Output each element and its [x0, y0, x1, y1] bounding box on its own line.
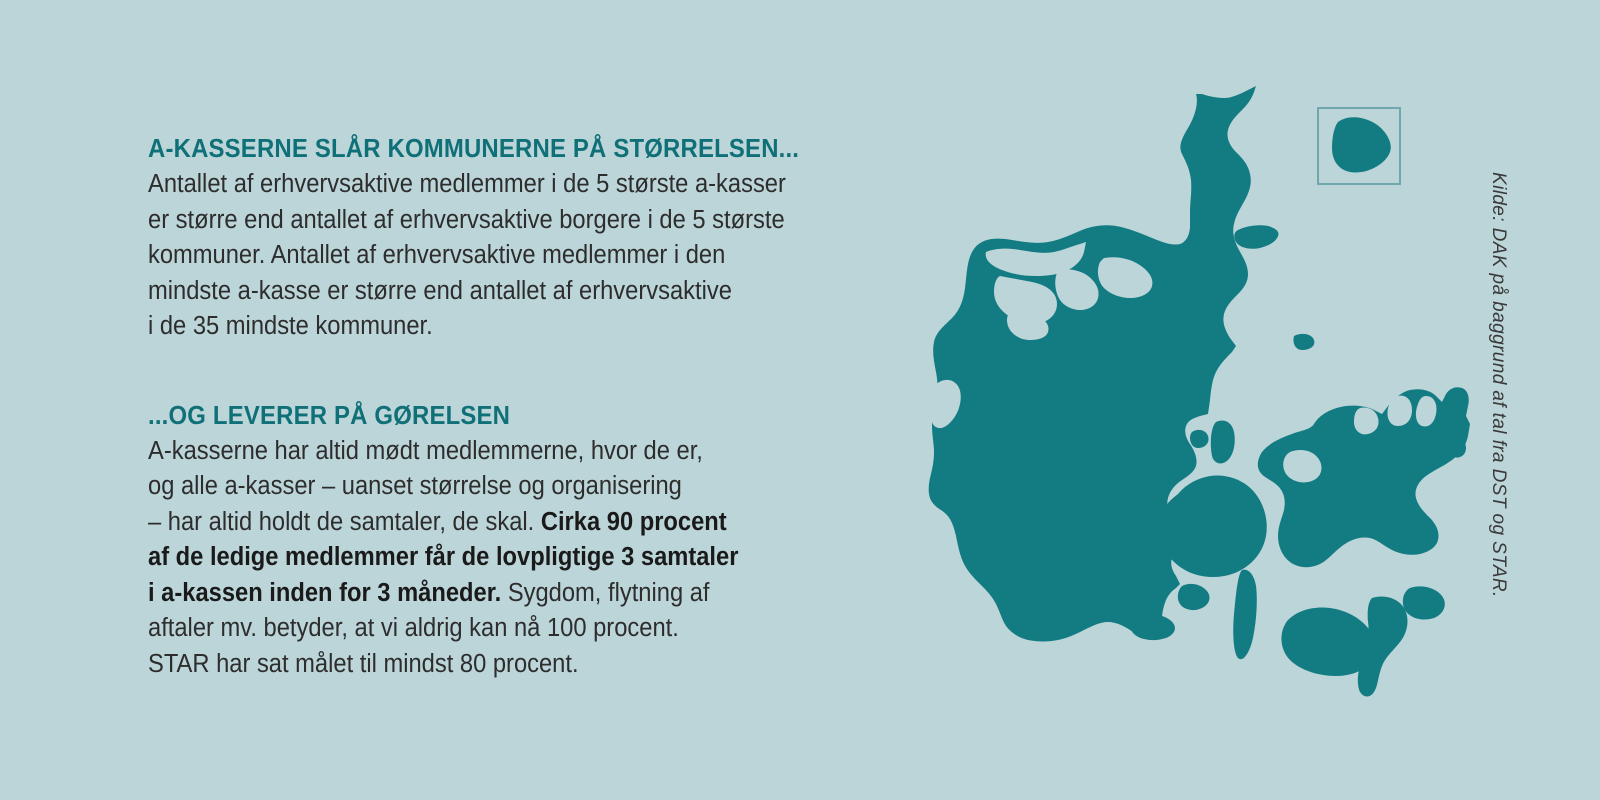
denmark-map-svg	[890, 80, 1470, 700]
text-column: A-KASSERNE SLÅR KOMMUNERNE PÅ STØRRELSEN…	[148, 134, 908, 682]
aero-island	[1130, 614, 1175, 640]
mon-island	[1403, 586, 1445, 619]
funen-islets	[1178, 584, 1210, 610]
block-1-body: Antallet af erhvervsaktive medlemmer i d…	[148, 167, 855, 345]
text-block-1: A-KASSERNE SLÅR KOMMUNERNE PÅ STØRRELSEN…	[148, 134, 908, 345]
bornholm-island	[1332, 117, 1391, 172]
denmark-map	[890, 80, 1470, 700]
source-note: Kilde: DAK på baggrund af tal fra DST og…	[1487, 172, 1509, 598]
laeso-island	[1234, 225, 1278, 249]
text-block-2: ...OG LEVERER PÅ GØRELSEN A-kasserne har…	[148, 401, 908, 683]
block-2-heading: ...OG LEVERER PÅ GØRELSEN	[148, 401, 847, 430]
block-2-body: A-kasserne har altid mødt medlemmerne, h…	[148, 434, 855, 683]
block-1-heading: A-KASSERNE SLÅR KOMMUNERNE PÅ STØRRELSEN…	[148, 134, 847, 163]
samso-island	[1211, 420, 1235, 463]
block-1-body-text: Antallet af erhvervsaktive medlemmer i d…	[148, 170, 786, 340]
funen-island	[1159, 475, 1267, 577]
infographic-page: A-KASSERNE SLÅR KOMMUNERNE PÅ STØRRELSEN…	[0, 0, 1600, 800]
langeland-island	[1233, 570, 1257, 660]
anholt-islet	[1293, 334, 1314, 350]
